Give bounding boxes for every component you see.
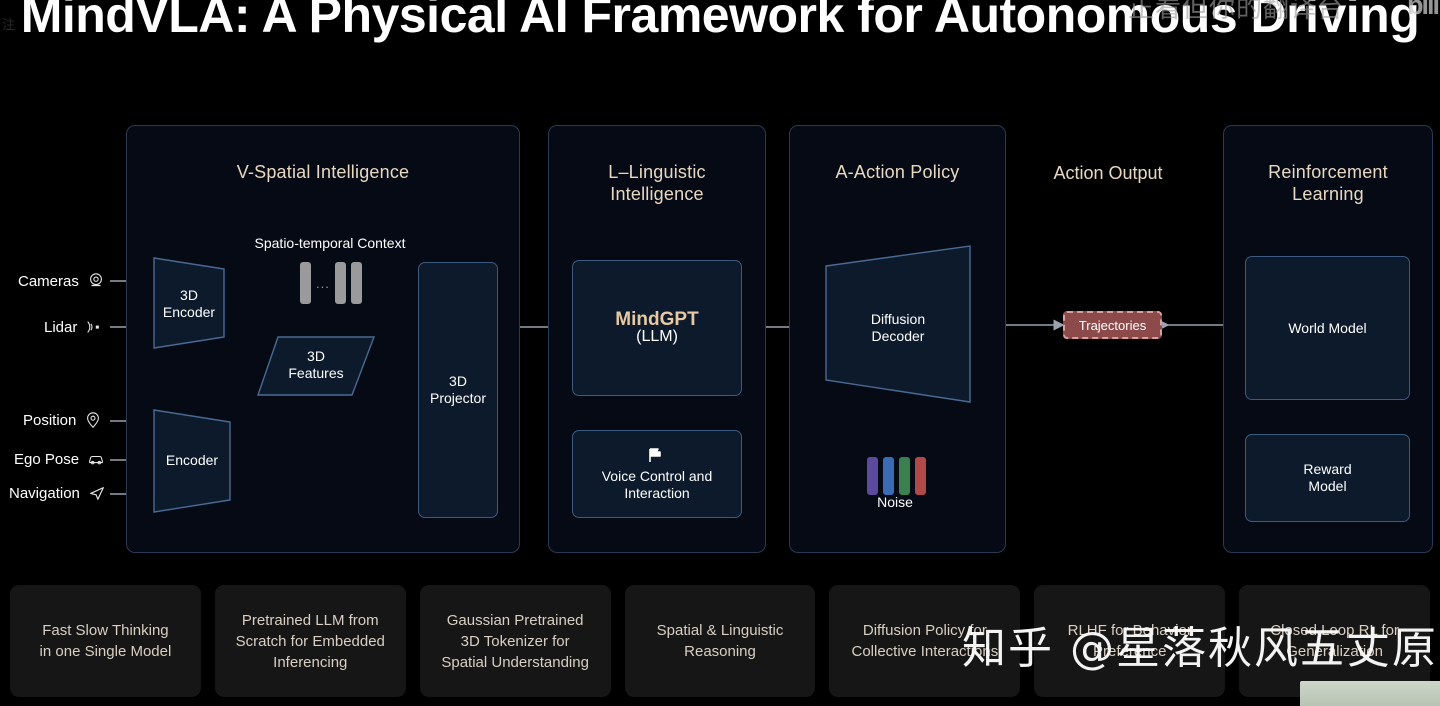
feature-card-text: Fast Slow Thinkingin one Single Model <box>40 620 172 662</box>
node-encoder-label: Encoder <box>152 452 232 468</box>
input-lidar-label: Lidar <box>44 319 77 336</box>
input-lidar: Lidar <box>44 318 103 336</box>
input-position: Position <box>23 411 102 429</box>
noise-label: Noise <box>840 494 950 510</box>
node-3d-encoder-label: 3D Encoder <box>152 287 226 321</box>
node-reward-model[interactable]: Reward Model <box>1245 434 1410 522</box>
node-3d-encoder-line1: 3D <box>180 287 198 303</box>
video-overlay-sliver <box>1300 681 1440 706</box>
trajectories-badge[interactable]: Trajectories <box>1063 311 1162 339</box>
token-bar <box>351 262 362 304</box>
input-cameras: Cameras <box>18 272 105 290</box>
camera-icon <box>87 272 105 290</box>
input-navigation: Navigation <box>9 484 106 502</box>
node-mindgpt[interactable]: MindGPT (LLM) <box>572 260 742 396</box>
node-world-model[interactable]: World Model <box>1245 256 1410 400</box>
node-reward-model-line1: Reward <box>1303 461 1351 478</box>
spatio-temporal-context-label: Spatio-temporal Context <box>230 235 430 251</box>
car-icon <box>87 450 105 468</box>
token-bar <box>300 262 311 304</box>
feature-card-3[interactable]: Gaussian Pretrained3D Tokenizer forSpati… <box>420 585 611 697</box>
panel-rl-title: Reinforcement Learning <box>1224 161 1432 205</box>
lidar-icon <box>85 318 103 336</box>
left-edge-mark: 注 <box>2 14 15 33</box>
panel-spatial-title: V-Spatial Intelligence <box>127 161 519 183</box>
feature-card-text: Pretrained LLM fromScratch for EmbeddedI… <box>236 610 385 673</box>
token-ellipsis: ... <box>316 276 330 291</box>
panel-rl-title-line1: Reinforcement <box>1268 162 1388 182</box>
noise-bar-4 <box>915 457 926 495</box>
noise-bar-3 <box>899 457 910 495</box>
node-voice-control-line2: Interaction <box>624 485 689 502</box>
node-3d-projector[interactable]: 3D Projector <box>418 262 498 518</box>
node-diffusion-decoder-line1: Diffusion <box>871 311 925 327</box>
node-3d-features-line2: Features <box>288 365 343 381</box>
feature-card-text: Spatial & LinguisticReasoning <box>657 620 784 662</box>
feature-card-1[interactable]: Fast Slow Thinkingin one Single Model <box>10 585 201 697</box>
panel-linguistic-title-line1: L–Linguistic <box>608 162 705 182</box>
input-position-label: Position <box>23 412 76 429</box>
node-3d-encoder-line2: Encoder <box>163 304 215 320</box>
feature-card-2[interactable]: Pretrained LLM fromScratch for EmbeddedI… <box>215 585 406 697</box>
trajectories-label: Trajectories <box>1079 318 1146 333</box>
zhihu-watermark: 知乎 @星落秋风五丈原 <box>962 612 1438 676</box>
node-voice-control[interactable]: Voice Control and Interaction <box>572 430 742 518</box>
megaphone-icon <box>647 446 667 464</box>
input-navigation-label: Navigation <box>9 485 80 502</box>
node-voice-control-line1: Voice Control and <box>602 468 713 485</box>
input-ego-pose: Ego Pose <box>14 450 105 468</box>
noise-bars <box>867 457 926 495</box>
node-world-model-label: World Model <box>1288 320 1366 337</box>
token-bars: ... <box>300 262 362 304</box>
node-3d-features-line1: 3D <box>307 348 325 364</box>
panel-rl-title-line2: Learning <box>1292 184 1364 204</box>
feature-card-4[interactable]: Spatial & LinguisticReasoning <box>625 585 816 697</box>
input-ego-pose-label: Ego Pose <box>14 451 79 468</box>
chinese-overlay-text: 正看但你的翻译台 <box>1128 0 1344 25</box>
location-pin-icon <box>84 411 102 429</box>
node-reward-model-line2: Model <box>1308 478 1346 495</box>
node-3d-features-label: 3D Features <box>256 348 376 382</box>
node-3d-projector-line1: 3D <box>449 373 467 390</box>
node-mindgpt-subtitle: (LLM) <box>636 328 678 345</box>
panel-action-title: A-Action Policy <box>790 161 1005 183</box>
input-cameras-label: Cameras <box>18 273 79 290</box>
node-mindgpt-title: MindGPT <box>615 311 698 328</box>
navigation-arrow-icon <box>88 484 106 502</box>
panel-linguistic-title: L–Linguistic Intelligence <box>549 161 765 205</box>
token-bar <box>335 262 346 304</box>
node-diffusion-decoder-line2: Decoder <box>872 328 925 344</box>
node-diffusion-decoder-label: Diffusion Decoder <box>824 311 972 345</box>
slide-canvas: MindVLA: A Physical AI Framework for Aut… <box>0 0 1440 706</box>
noise-bar-1 <box>867 457 878 495</box>
bilibili-logo: bili <box>1407 0 1438 21</box>
feature-card-text: Gaussian Pretrained3D Tokenizer forSpati… <box>441 610 589 673</box>
noise-bar-2 <box>883 457 894 495</box>
panel-linguistic-title-line2: Intelligence <box>610 184 703 204</box>
action-output-title: Action Output <box>1010 162 1206 184</box>
node-3d-projector-line2: Projector <box>430 390 486 407</box>
